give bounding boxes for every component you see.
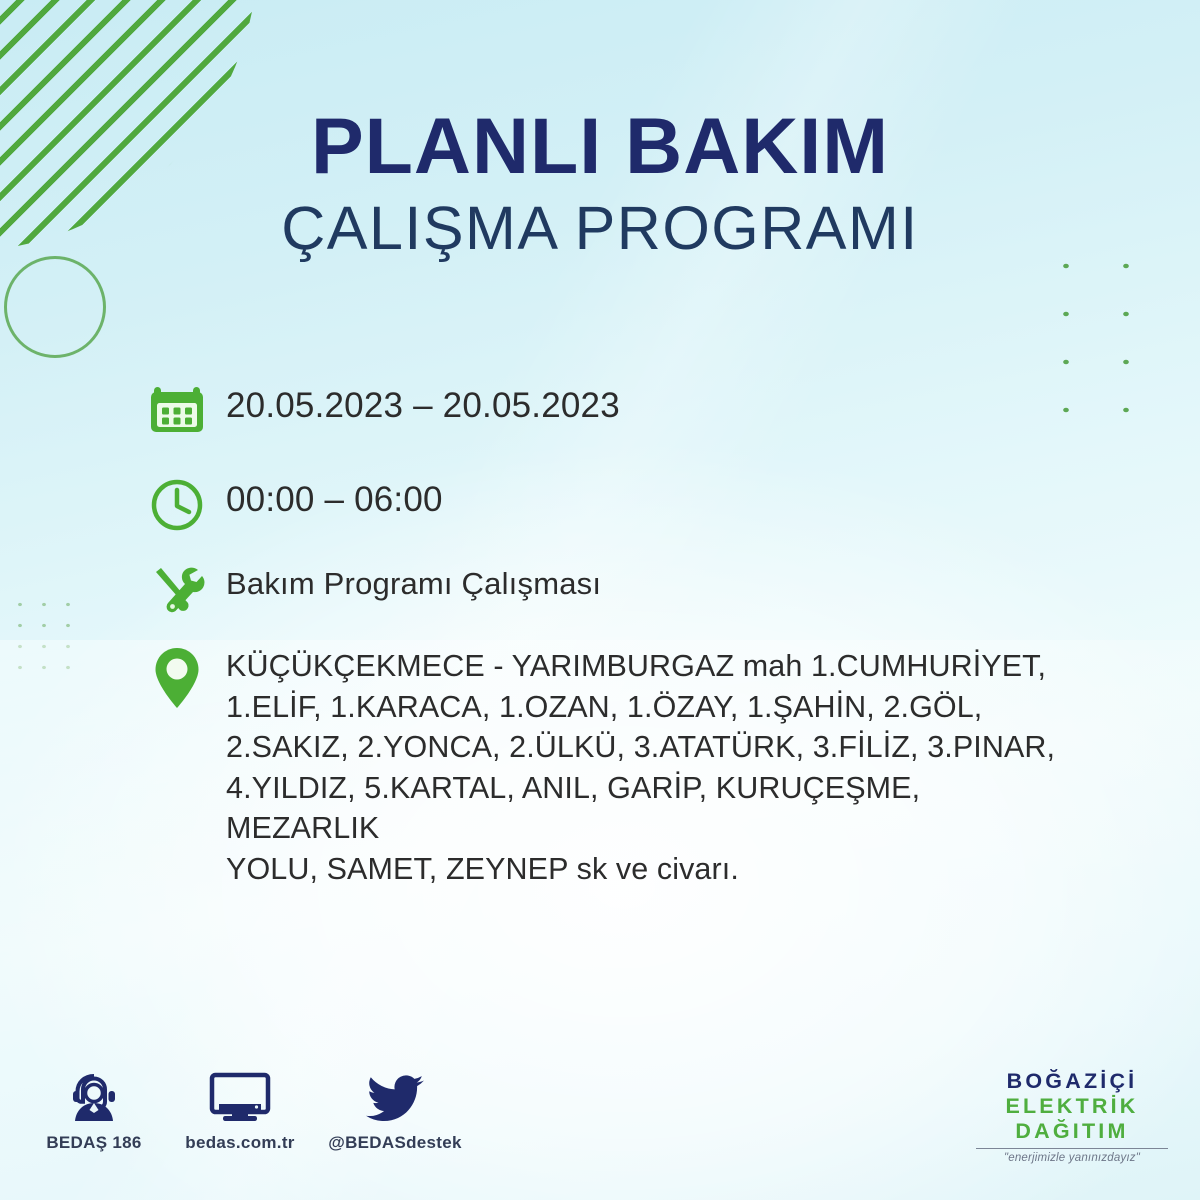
- footer-phone-label: BEDAŞ 186: [24, 1133, 164, 1153]
- brand-divider: [976, 1148, 1168, 1149]
- brand-line-elektrik: ELEKTRİK: [962, 1094, 1182, 1119]
- footer-item-website[interactable]: bedas.com.tr: [160, 1068, 320, 1153]
- clock-icon: [148, 476, 226, 534]
- info-row-time-text: 00:00 – 06:00: [226, 476, 1078, 517]
- title-main: PLANLI BAKIM: [0, 108, 1200, 184]
- info-row-location: KÜÇÜKÇEKMECE - YARIMBURGAZ mah 1.CUMHURİ…: [148, 644, 1078, 889]
- brand-logo: BOĞAZİÇİ ELEKTRİK DAĞITIM "enerjimizle y…: [962, 1069, 1182, 1164]
- info-row-work-type-text: Bakım Programı Çalışması: [226, 562, 1078, 599]
- info-row-date-text: 20.05.2023 – 20.05.2023: [226, 378, 1078, 423]
- brand-line-dagitim: DAĞITIM: [962, 1119, 1182, 1144]
- info-row-location-text: KÜÇÜKÇEKMECE - YARIMBURGAZ mah 1.CUMHURİ…: [226, 644, 1078, 889]
- title-subtitle: ÇALIŞMA PROGRAMI: [0, 196, 1200, 260]
- date-range-value: 20.05.2023 – 20.05.2023: [226, 378, 1078, 423]
- tools-icon: [148, 562, 226, 620]
- time-range-value: 00:00 – 06:00: [226, 476, 1078, 517]
- twitter-bird-icon: [300, 1068, 490, 1124]
- info-row-time: 00:00 – 06:00: [148, 476, 1078, 562]
- footer-website-label: bedas.com.tr: [160, 1133, 320, 1153]
- page-title: PLANLI BAKIM ÇALIŞMA PROGRAMI: [0, 108, 1200, 260]
- map-pin-icon: [148, 644, 226, 714]
- work-type-value: Bakım Programı Çalışması: [226, 562, 1078, 599]
- affected-streets-value: KÜÇÜKÇEKMECE - YARIMBURGAZ mah 1.CUMHURİ…: [226, 644, 1078, 889]
- monitor-icon: [160, 1068, 320, 1124]
- calendar-icon: [148, 378, 226, 436]
- footer-item-phone[interactable]: BEDAŞ 186: [24, 1068, 164, 1153]
- brand-line-bogazici: BOĞAZİÇİ: [962, 1069, 1182, 1094]
- support-agent-icon: [24, 1068, 164, 1124]
- info-row-work-type: Bakım Programı Çalışması: [148, 562, 1078, 644]
- info-row-date: 20.05.2023 – 20.05.2023: [148, 378, 1078, 476]
- poster-canvas: PLANLI BAKIM ÇALIŞMA PROGRAMI: [0, 0, 1200, 1200]
- info-list: 20.05.2023 – 20.05.2023 00:00 – 06:00: [148, 378, 1078, 889]
- footer-item-twitter[interactable]: @BEDASdestek: [300, 1068, 490, 1153]
- circle-outline-decoration: [4, 256, 106, 358]
- footer-twitter-label: @BEDASdestek: [300, 1133, 490, 1153]
- brand-tagline: "enerjimizle yanınızdayız": [962, 1152, 1182, 1164]
- dot-grid-left-decoration: [6, 592, 86, 678]
